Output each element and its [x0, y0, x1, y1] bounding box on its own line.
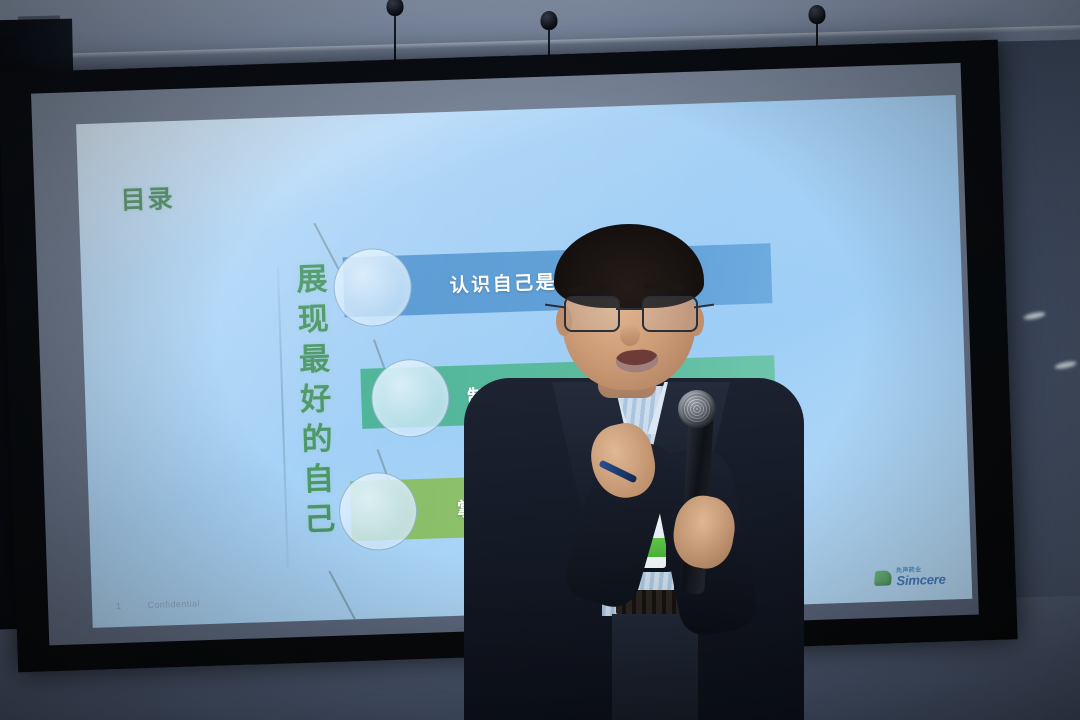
- nose: [620, 324, 640, 346]
- wall-light-reflection: [1023, 311, 1046, 321]
- simcere-logo: 先声药业 Simcere: [874, 567, 946, 588]
- wall-light-reflection: [1054, 360, 1077, 370]
- slide-title: 目录: [120, 179, 175, 217]
- logo-english-name: Simcere: [896, 573, 946, 588]
- lens-left: [564, 296, 620, 332]
- slide-footer: 1 Confidential: [116, 598, 200, 611]
- confidential-label: Confidential: [147, 598, 200, 610]
- photo-scene: 目录 展现最好的自己 认识自己是一切的开始 制作一份好简历: [0, 0, 1080, 720]
- glasses-bridge: [616, 308, 642, 310]
- leaf-cube-icon: [874, 570, 892, 586]
- vertical-headline: 展现最好的自己: [283, 262, 340, 543]
- speaker: [470, 210, 800, 720]
- microphone-mesh: [681, 393, 713, 425]
- glasses-temple-left: [545, 304, 565, 309]
- connector-line: [328, 571, 357, 623]
- slide-page-number: 1: [116, 601, 122, 611]
- lens-right: [642, 296, 698, 332]
- trousers: [612, 614, 698, 720]
